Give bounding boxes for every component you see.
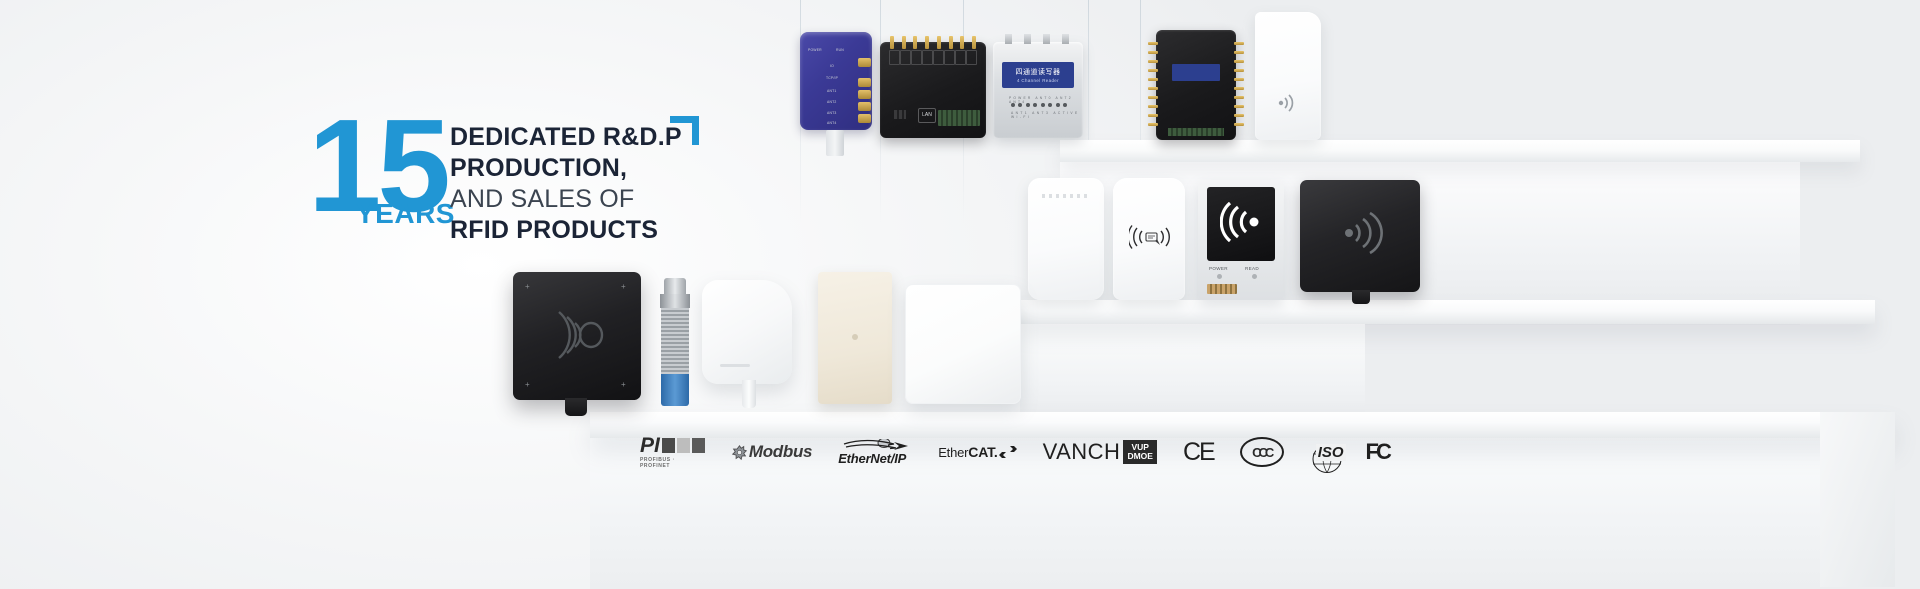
product-white-panel-reader-tall bbox=[1255, 12, 1321, 140]
pi-logo-text: PI bbox=[640, 435, 660, 456]
certification-logo-strip: PI PROFIBUS · PROFINET Modbus EtherNet/I… bbox=[640, 432, 1320, 472]
pi-logo-subtext: PROFIBUS · PROFINET bbox=[640, 457, 705, 469]
ce-mark-text: CE bbox=[1183, 438, 1214, 467]
rfid-card-wave-icon bbox=[1129, 222, 1171, 252]
pi-square-dark bbox=[662, 438, 675, 453]
product-white-square-antenna bbox=[905, 284, 1019, 408]
banner-stage: 15 YEARS DEDICATED R&D.P PRODUCTION, AND… bbox=[0, 0, 1920, 589]
product-white-directional-antenna bbox=[702, 280, 798, 412]
ccc-mark-text: CCC bbox=[1240, 437, 1284, 467]
product-white-card-reader bbox=[1113, 178, 1185, 300]
pi-profibus-profinet-logo: PI PROFIBUS · PROFINET bbox=[640, 435, 705, 469]
shelf-middle bbox=[1020, 300, 1875, 324]
shelf-top bbox=[1060, 140, 1860, 162]
ccc-mark: CCC bbox=[1240, 437, 1284, 467]
ethernet-ip-logo: EtherNet/IP bbox=[838, 439, 912, 466]
product-cylindrical-sensor bbox=[658, 278, 692, 412]
years-label: YEARS bbox=[356, 198, 455, 230]
silver-reader-title-cn: 四通道读写器 bbox=[1016, 67, 1061, 77]
rfid-wave-icon bbox=[1220, 202, 1262, 242]
modbus-gear-icon bbox=[731, 444, 748, 461]
product-silver-4-channel-reader: 四通道读写器 4 Channel Reader POWER ANT0 ANT2 … bbox=[993, 34, 1083, 138]
rfid-wave-icon bbox=[1275, 90, 1301, 116]
shelf-riser-middle bbox=[1020, 322, 1365, 417]
ethercat-arrows-icon bbox=[999, 445, 1017, 459]
product-black-8-channel-reader: LAN bbox=[880, 36, 986, 138]
product-white-slim-reader bbox=[1028, 178, 1104, 300]
modbus-logo-text: Modbus bbox=[749, 442, 812, 462]
vanch-logo: VANCH VUP DMOE bbox=[1043, 439, 1157, 465]
headline-line-4: RFID PRODUCTS bbox=[450, 215, 730, 246]
iso-mark: ISO bbox=[1310, 444, 1340, 461]
fcc-mark: FC bbox=[1366, 439, 1389, 465]
silver-reader-title-en: 4 Channel Reader bbox=[1017, 78, 1059, 83]
vanch-logo-text: VANCH bbox=[1043, 439, 1121, 465]
ethernet-ip-logo-text: EtherNet/IP bbox=[838, 451, 906, 466]
ce-mark: CE bbox=[1183, 438, 1214, 467]
product-black-square-reader bbox=[1300, 180, 1420, 298]
rfid-wave-icon bbox=[553, 310, 605, 360]
vanch-badge-line-2: DMOE bbox=[1127, 452, 1153, 461]
pi-square-mid bbox=[692, 438, 705, 453]
product-black-multiport-module bbox=[1148, 30, 1244, 140]
fcc-mark-text: FC bbox=[1366, 439, 1389, 465]
vanch-badge: VUP DMOE bbox=[1123, 440, 1157, 464]
ethercat-logo-text-light: Ether bbox=[938, 445, 968, 460]
product-cream-panel-antenna bbox=[818, 272, 892, 412]
headline-line-2: PRODUCTION, bbox=[450, 153, 730, 184]
product-access-control-reader: POWER READ bbox=[1198, 180, 1284, 300]
rfid-wave-icon bbox=[1338, 210, 1384, 256]
headline-line-3: AND SALES OF bbox=[450, 184, 730, 215]
product-blue-rfid-reader: POWER RUN IO TCP/IP ANT1 ANT2 ANT3 ANT4 bbox=[800, 32, 872, 140]
ethercat-logo-text-bold: CAT. bbox=[968, 444, 997, 460]
iso-mark-text: ISO bbox=[1316, 444, 1346, 461]
modbus-logo: Modbus bbox=[731, 442, 812, 462]
ethercat-logo: Ether CAT. bbox=[938, 444, 1016, 460]
product-black-square-antenna: + + + + bbox=[513, 272, 641, 412]
headline-block: 15 YEARS DEDICATED R&D.P PRODUCTION, AND… bbox=[308, 112, 728, 242]
corner-accent-icon bbox=[670, 116, 699, 145]
shelf-bevel bbox=[1820, 412, 1895, 587]
pi-square-light bbox=[677, 438, 690, 453]
